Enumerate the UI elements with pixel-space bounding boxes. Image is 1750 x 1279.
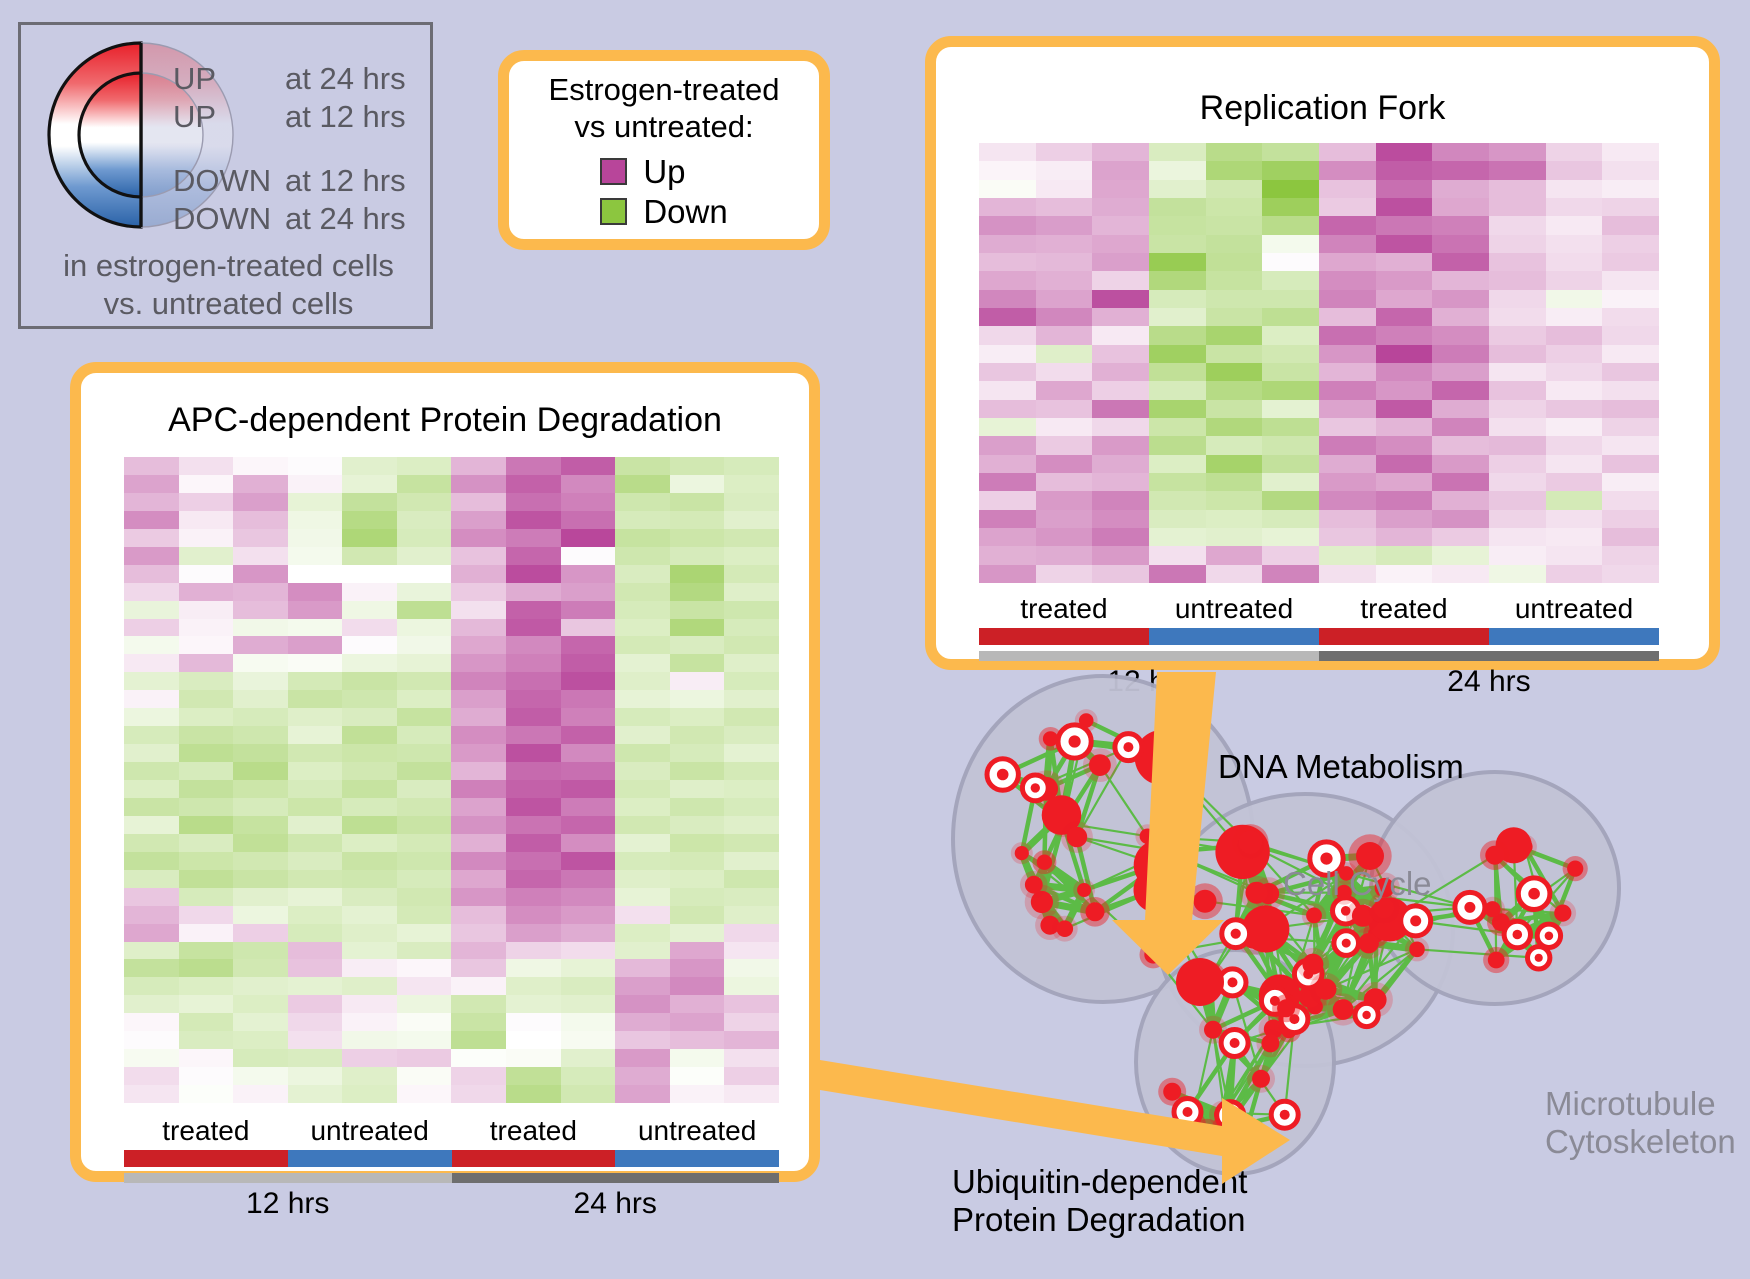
node-core (1134, 867, 1179, 912)
heatmap-cell (1092, 216, 1149, 234)
node-core (1246, 882, 1268, 904)
network-node[interactable] (1563, 856, 1588, 881)
network-node[interactable] (1052, 916, 1078, 942)
network-node[interactable] (1011, 842, 1033, 864)
heatmap-cell (1206, 528, 1263, 546)
heatmap-cell (1036, 491, 1093, 509)
network-node[interactable] (1480, 840, 1510, 870)
heatmap-cell (124, 1049, 179, 1067)
heatmap-cell (1092, 491, 1149, 509)
heatmap-cell (615, 511, 670, 529)
heatmap-cell (506, 798, 561, 816)
heatmap-cell (979, 473, 1036, 491)
heatmap-cell (561, 690, 616, 708)
timepoint-colour-bar (124, 1173, 779, 1183)
heatmap-cell (1092, 418, 1149, 436)
heatmap-cell (397, 977, 452, 995)
heatmap-cell (288, 565, 343, 583)
heatmap-cell (1092, 235, 1149, 253)
heatmap-cell (615, 457, 670, 475)
heatmap-cell (670, 906, 725, 924)
heatmap-cell (342, 654, 397, 672)
heatmap-cell (288, 1049, 343, 1067)
heatmap-cell (1489, 161, 1546, 179)
heatmap-cell (1432, 491, 1489, 509)
heatmap-cell (342, 619, 397, 637)
heatmap-cell (451, 834, 506, 852)
heatmap-cell (288, 726, 343, 744)
heatmap-cell (1262, 381, 1319, 399)
heatmap-cell (233, 547, 288, 565)
network-node[interactable] (1217, 1102, 1244, 1129)
heatmap-cell (1206, 308, 1263, 326)
node-core (1067, 827, 1088, 848)
node-core (997, 769, 1009, 781)
heatmap-cell (124, 834, 179, 852)
heatmap-cell (561, 1031, 616, 1049)
heatmap-cell (179, 457, 234, 475)
heatmap-cell (342, 547, 397, 565)
network-node[interactable] (1140, 941, 1167, 968)
heatmap-cell (979, 363, 1036, 381)
heatmap-cell (1149, 363, 1206, 381)
heatmap-cell (1036, 546, 1093, 564)
network-node[interactable] (1032, 850, 1056, 874)
heatmap-cell (288, 870, 343, 888)
heatmap-cell (288, 511, 343, 529)
heatmap-cell (724, 708, 779, 726)
heatmap-cell (124, 995, 179, 1013)
colour-wheel-caption: in estrogen-treated cells vs. untreated … (21, 247, 436, 323)
cluster-label-line-1: Microtubule (1545, 1085, 1736, 1123)
condition-bar-segment (288, 1150, 452, 1167)
heatmap-cell (1546, 381, 1603, 399)
heatmap-cell (1319, 253, 1376, 271)
heatmap-cell (451, 475, 506, 493)
heatmap-cell (670, 1049, 725, 1067)
node-core (1239, 831, 1262, 854)
heatmap-cell (179, 654, 234, 672)
heatmap-cell (1149, 180, 1206, 198)
heatmap-cell (1092, 528, 1149, 546)
heatmap-cell (724, 1049, 779, 1067)
heatmap-cell (124, 1085, 179, 1103)
heatmap-cell (1602, 418, 1659, 436)
heatmap-cell (615, 906, 670, 924)
network-node[interactable] (1355, 1003, 1378, 1026)
heatmap-cell (124, 1013, 179, 1031)
heatmap-cell (233, 995, 288, 1013)
heatmap-cell (1092, 381, 1149, 399)
heatmap-cell (1602, 161, 1659, 179)
heatmap-cell (124, 565, 179, 583)
heatmap-cell (451, 511, 506, 529)
heatmap-cell (979, 216, 1036, 234)
heatmap-cell (233, 924, 288, 942)
network-node[interactable] (1199, 1016, 1227, 1044)
heatmap-cell (561, 672, 616, 690)
heatmap-cell (1376, 253, 1433, 271)
heatmap-cell (233, 1049, 288, 1067)
heatmap-cell (1149, 418, 1206, 436)
heatmap-cell (1432, 400, 1489, 418)
wheel-row-down24: DOWN at 24 hrs (173, 201, 433, 239)
heatmap-cell (451, 654, 506, 672)
node-core (1194, 890, 1217, 913)
heatmap-cell (1149, 528, 1206, 546)
network-node[interactable] (1083, 748, 1117, 782)
heatmap-cell (397, 601, 452, 619)
network-node[interactable] (1187, 883, 1223, 919)
heatmap-cell (397, 654, 452, 672)
heatmap-cell (1546, 491, 1603, 509)
heatmap-cell (342, 1085, 397, 1103)
heatmap-cell (615, 1049, 670, 1067)
colour-key-title-line-1: Estrogen-treated (549, 72, 780, 109)
heatmap-cell (561, 708, 616, 726)
heatmap-cell (724, 547, 779, 565)
network-node[interactable] (1176, 958, 1224, 1006)
node-core (1306, 908, 1322, 924)
network-node[interactable] (1334, 931, 1359, 956)
heatmap-cell (561, 565, 616, 583)
heatmap-cell (506, 636, 561, 654)
heatmap-cell (1206, 143, 1263, 161)
replication-fork-panel: Replication Fork treateduntreatedtreated… (925, 36, 1720, 670)
heatmap-cell (615, 780, 670, 798)
heatmap-cell (1432, 436, 1489, 454)
network-node[interactable] (1401, 906, 1431, 936)
network-node[interactable] (1022, 775, 1048, 801)
heatmap-cell (288, 619, 343, 637)
heatmap-cell (451, 924, 506, 942)
heatmap-cell (397, 834, 452, 852)
heatmap-cell (397, 708, 452, 726)
network-node[interactable] (1302, 903, 1326, 927)
heatmap-cell (342, 708, 397, 726)
up-down-colour-key-panel: Estrogen-treated vs untreated: Up Down (498, 50, 830, 250)
heatmap-cell (1206, 510, 1263, 528)
heatmap-cell (1489, 400, 1546, 418)
heatmap-cell (1602, 363, 1659, 381)
heatmap-cell (124, 870, 179, 888)
heatmap-cell (1319, 271, 1376, 289)
network-node[interactable] (1135, 824, 1159, 848)
network-node[interactable] (1483, 947, 1509, 973)
heatmap-cell (1376, 491, 1433, 509)
network-node[interactable] (1232, 824, 1268, 860)
network-node[interactable] (1455, 892, 1485, 922)
heatmap-cell (179, 1067, 234, 1085)
heatmap-cell (979, 308, 1036, 326)
heatmap-cell (342, 529, 397, 547)
heatmap-cell (561, 601, 616, 619)
heatmap-cell (233, 583, 288, 601)
heatmap-cell (506, 906, 561, 924)
heatmap-cell (1149, 565, 1206, 583)
heatmap-cell (1432, 528, 1489, 546)
node-core (1140, 829, 1155, 844)
heatmap-cell (397, 565, 452, 583)
heatmap-cell (1489, 216, 1546, 234)
condition-colour-bar (124, 1150, 779, 1167)
network-node[interactable] (1158, 1078, 1186, 1106)
heatmap-cell (1319, 198, 1376, 216)
heatmap-cell (397, 942, 452, 960)
heatmap-cell (615, 959, 670, 977)
heatmap-cell (288, 977, 343, 995)
condition-bar-segment (615, 1150, 779, 1167)
heatmap-cell (1206, 565, 1263, 583)
network-node[interactable] (1135, 730, 1191, 786)
heatmap-cell (288, 798, 343, 816)
heatmap-cell (1376, 473, 1433, 491)
heatmap-cell (506, 654, 561, 672)
heatmap-cell (561, 977, 616, 995)
heatmap-cell (724, 924, 779, 942)
heatmap-cell (1546, 290, 1603, 308)
heatmap-cell (506, 780, 561, 798)
heatmap-cell (1206, 216, 1263, 234)
network-node[interactable] (1247, 1065, 1275, 1093)
node-core (1144, 946, 1162, 964)
heatmap-cell (1206, 546, 1263, 564)
node-core (1277, 999, 1295, 1017)
heatmap-cell (506, 924, 561, 942)
heatmap-cell (397, 547, 452, 565)
wheel-timepoint: at 12 hrs (285, 163, 406, 199)
heatmap-cell (288, 475, 343, 493)
heatmap-cell (1546, 326, 1603, 344)
heatmap-cell (670, 619, 725, 637)
heatmap-cell (179, 816, 234, 834)
heatmap-cell (1602, 473, 1659, 491)
network-node[interactable] (1073, 879, 1095, 901)
heatmap-cell (1489, 326, 1546, 344)
heatmap-cell (670, 726, 725, 744)
colour-key-item-up: Up (600, 152, 727, 192)
heatmap-cell (397, 744, 452, 762)
heatmap-cell (1206, 271, 1263, 289)
heatmap-cell (1262, 491, 1319, 509)
heatmap-cell (1036, 308, 1093, 326)
heatmap-cell (506, 1067, 561, 1085)
heatmap-cell (979, 381, 1036, 399)
heatmap-cell (724, 565, 779, 583)
heatmap-cell (615, 636, 670, 654)
network-node[interactable] (1222, 920, 1250, 948)
heatmap-cell (1602, 400, 1659, 418)
heatmap-cell (124, 601, 179, 619)
heatmap-cell (179, 852, 234, 870)
heatmap-cell (1376, 436, 1433, 454)
heatmap-cell (233, 529, 288, 547)
heatmap-cell (615, 672, 670, 690)
heatmap-cell (506, 834, 561, 852)
heatmap-cell (724, 942, 779, 960)
network-node[interactable] (1240, 876, 1274, 910)
network-node[interactable] (1405, 937, 1429, 961)
heatmap-cell (506, 601, 561, 619)
heatmap-cell (979, 161, 1036, 179)
condition-label: untreated (288, 1115, 452, 1147)
page-title: APC-dependent Protein Degradation (81, 401, 809, 440)
condition-label: untreated (1489, 593, 1659, 625)
heatmap-cell (1376, 565, 1433, 583)
cluster-label-microtubule-cytoskeleton: Microtubule Cytoskeleton (1545, 1085, 1736, 1161)
heatmap-cell (1319, 363, 1376, 381)
wheel-row-down12: DOWN at 12 hrs (173, 163, 433, 201)
heatmap-cell (1319, 143, 1376, 161)
heatmap-cell (1036, 290, 1093, 308)
heatmap-cell (615, 654, 670, 672)
heatmap-cell (451, 726, 506, 744)
cluster-label-dna-metabolism: DNA Metabolism (1218, 748, 1464, 786)
heatmap-cell (124, 942, 179, 960)
node-core (1077, 883, 1091, 897)
network-node[interactable] (1272, 994, 1300, 1022)
heatmap-cell (397, 780, 452, 798)
heatmap-cell (288, 888, 343, 906)
node-core (1362, 1011, 1370, 1019)
network-node[interactable] (1020, 871, 1048, 899)
heatmap-cell (1432, 143, 1489, 161)
network-node[interactable] (1058, 725, 1091, 758)
heatmap-cell (1376, 345, 1433, 363)
heatmap-cell (288, 942, 343, 960)
heatmap-cell (561, 1067, 616, 1085)
heatmap-cell (233, 672, 288, 690)
node-core (1320, 853, 1332, 865)
network-node[interactable] (1528, 947, 1550, 969)
timepoint-label: 24 hrs (452, 1187, 780, 1221)
heatmap-cell (724, 834, 779, 852)
heatmap-cell (1489, 363, 1546, 381)
heatmap-cell (724, 780, 779, 798)
heatmap-cell (506, 619, 561, 637)
heatmap-cell (724, 690, 779, 708)
heatmap-cell (342, 1067, 397, 1085)
heatmap-cell (724, 1013, 779, 1031)
heatmap-cell (1262, 400, 1319, 418)
node-core (1015, 846, 1029, 860)
heatmap-cell (1092, 290, 1149, 308)
heatmap-cell (124, 852, 179, 870)
heatmap-cell (979, 436, 1036, 454)
heatmap-cell (1376, 290, 1433, 308)
heatmap-cell (670, 690, 725, 708)
heatmap-cell (1206, 198, 1263, 216)
heatmap-cell (233, 1085, 288, 1103)
heatmap-cell (724, 995, 779, 1013)
heatmap-cell (397, 493, 452, 511)
network-node[interactable] (1115, 734, 1142, 761)
heatmap-cell (397, 636, 452, 654)
heatmap-cell (615, 798, 670, 816)
heatmap-cell (1546, 546, 1603, 564)
caption-line-2: vs. untreated cells (21, 285, 436, 323)
network-node[interactable] (1271, 1101, 1298, 1128)
heatmap-cell (1206, 400, 1263, 418)
heatmap-cell (615, 852, 670, 870)
heatmap-cell (561, 511, 616, 529)
heatmap-cell (615, 924, 670, 942)
colour-key-item-down: Down (600, 192, 727, 232)
network-node[interactable] (1310, 973, 1343, 1006)
heatmap-cell (342, 924, 397, 942)
network-node[interactable] (1134, 867, 1179, 912)
network-node[interactable] (1518, 878, 1550, 910)
node-core (1261, 1034, 1279, 1052)
heatmap-cell (561, 654, 616, 672)
condition-labels: treateduntreatedtreateduntreated (124, 1115, 779, 1147)
heatmap-cell (1376, 381, 1433, 399)
heatmap-cell (451, 1013, 506, 1031)
heatmap-cell (1432, 253, 1489, 271)
node-core (1086, 902, 1105, 921)
heatmap-cell (1206, 363, 1263, 381)
heatmap-cell (670, 583, 725, 601)
heatmap-cell (615, 816, 670, 834)
heatmap-cell (615, 888, 670, 906)
wheel-timepoint: at 24 hrs (285, 61, 406, 97)
network-node[interactable] (1256, 1029, 1284, 1057)
heatmap-cell (1036, 381, 1093, 399)
heatmap-cell (1432, 363, 1489, 381)
heatmap-cell (1602, 216, 1659, 234)
heatmap-cell (397, 1085, 452, 1103)
heatmap-cell (179, 636, 234, 654)
heatmap-cell (451, 636, 506, 654)
wheel-timepoint: at 24 hrs (285, 201, 406, 237)
heatmap-cell (615, 995, 670, 1013)
heatmap-cell (979, 198, 1036, 216)
heatmap-cell (397, 1067, 452, 1085)
network-node[interactable] (987, 759, 1018, 790)
wheel-direction: UP (173, 99, 285, 135)
heatmap-cell (506, 744, 561, 762)
network-node[interactable] (1537, 924, 1560, 947)
network-node[interactable] (1504, 921, 1530, 947)
heatmap-cell (670, 852, 725, 870)
heatmap-cell (124, 816, 179, 834)
heatmap-cell (342, 995, 397, 1013)
wheel-direction: UP (173, 61, 285, 97)
heatmap-cell (1092, 253, 1149, 271)
node-core (1183, 1107, 1193, 1117)
network-node[interactable] (1080, 897, 1110, 927)
heatmap-cell (124, 690, 179, 708)
network-node[interactable] (1061, 821, 1093, 853)
heatmap-cell (1319, 235, 1376, 253)
heatmap-cell (397, 816, 452, 834)
heatmap-cell (724, 744, 779, 762)
heatmap-cell (1489, 198, 1546, 216)
heatmap-cell (1036, 271, 1093, 289)
heatmap-cell (1432, 326, 1489, 344)
heatmap-cell (124, 977, 179, 995)
node-core (1535, 954, 1543, 962)
heatmap-cell (1546, 216, 1603, 234)
heatmap-cell (233, 906, 288, 924)
heatmap-cell (233, 888, 288, 906)
heatmap-cell (451, 601, 506, 619)
heatmap-cell (615, 475, 670, 493)
heatmap-cell (342, 493, 397, 511)
heatmap-cell (179, 959, 234, 977)
heatmap-cell (1602, 290, 1659, 308)
heatmap-cell (397, 852, 452, 870)
